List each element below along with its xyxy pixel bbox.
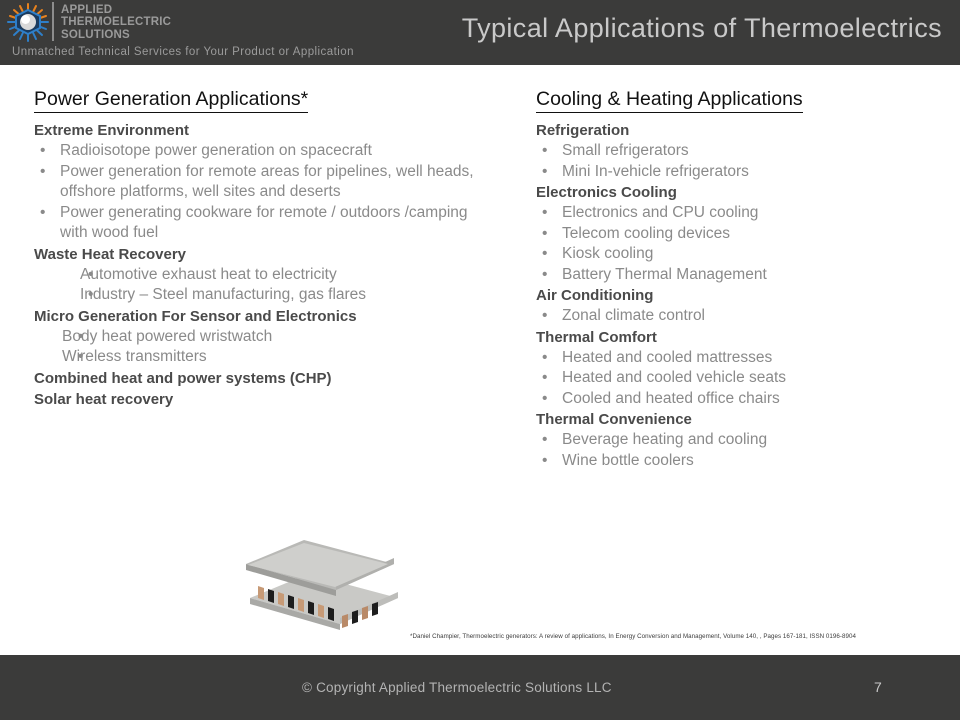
logo-line-2: THERMOELECTRIC: [61, 16, 171, 28]
bullet-item: •Automotive exhaust heat to electricity: [34, 265, 486, 286]
section-subheading: Waste Heat Recovery: [34, 245, 486, 265]
section-subheading: Extreme Environment: [34, 121, 486, 141]
bullet-text: Beverage heating and cooling: [562, 430, 956, 451]
bullet-dot-icon: •: [536, 141, 562, 162]
logo-wordmark: APPLIED THERMOELECTRIC SOLUTIONS: [52, 2, 171, 41]
bullet-text: Small refrigerators: [562, 141, 956, 162]
section-subheading: Thermal Convenience: [536, 410, 956, 430]
section-subheading: Solar heat recovery: [34, 390, 486, 410]
bullet-text: Mini In-vehicle refrigerators: [562, 162, 956, 183]
slide-title: Typical Applications of Thermoelectrics: [462, 13, 942, 44]
left-column-heading: Power Generation Applications*: [34, 88, 308, 113]
right-column-heading: Cooling & Heating Applications: [536, 88, 803, 113]
bullet-text: Zonal climate control: [562, 306, 956, 327]
bullet-item: •Wireless transmitters: [34, 347, 486, 368]
bullet-dot-icon: •: [536, 224, 562, 245]
bullet-text: Wireless transmitters: [62, 347, 486, 368]
bullet-text: Radioisotope power generation on spacecr…: [60, 141, 486, 162]
bullet-dot-icon: •: [34, 203, 60, 244]
section-subheading: Thermal Comfort: [536, 328, 956, 348]
bullet-dot-icon: •: [34, 162, 60, 203]
bullet-dot-icon: •: [34, 141, 60, 162]
bullet-text: Wine bottle coolers: [562, 451, 956, 472]
right-content-column: Cooling & Heating Applications Refrigera…: [536, 88, 956, 471]
bullet-item: •Power generation for remote areas for p…: [34, 162, 486, 203]
bullet-item: •Battery Thermal Management: [536, 265, 956, 286]
page-number: 7: [874, 679, 882, 695]
bullet-item: •Small refrigerators: [536, 141, 956, 162]
section-subheading: Electronics Cooling: [536, 183, 956, 203]
bullet-text: Power generation for remote areas for pi…: [60, 162, 486, 203]
bullet-item: •Industry – Steel manufacturing, gas fla…: [34, 285, 486, 306]
bullet-dot-icon: •: [536, 203, 562, 224]
bullet-text: Body heat powered wristwatch: [62, 327, 486, 348]
bullet-dot-icon: •: [536, 265, 562, 286]
bullet-text: Industry – Steel manufacturing, gas flar…: [80, 285, 486, 306]
bullet-item: •Body heat powered wristwatch: [34, 327, 486, 348]
bullet-item: •Power generating cookware for remote / …: [34, 203, 486, 244]
copyright-notice: © Copyright Applied Thermoelectric Solut…: [302, 680, 612, 695]
bullet-dot-icon: •: [536, 451, 562, 472]
company-tagline: Unmatched Technical Services for Your Pr…: [12, 46, 354, 58]
bullet-dot-icon: •: [536, 244, 562, 265]
bullet-text: Kiosk cooling: [562, 244, 956, 265]
source-footnote: *Daniel Champier, Thermoelectric generat…: [410, 632, 950, 641]
bullet-text: Heated and cooled mattresses: [562, 348, 956, 369]
bullet-text: Electronics and CPU cooling: [562, 203, 956, 224]
bullet-item: •Cooled and heated office chairs: [536, 389, 956, 410]
bullet-item: •Kiosk cooling: [536, 244, 956, 265]
bullet-dot-icon: •: [536, 430, 562, 451]
bullet-item: •Electronics and CPU cooling: [536, 203, 956, 224]
left-content-column: Power Generation Applications* Extreme E…: [34, 88, 486, 410]
slide-header-bar: APPLIED THERMOELECTRIC SOLUTIONS Unmatch…: [0, 0, 960, 65]
sunburst-logo-icon: [6, 2, 50, 44]
left-column-blocks: Extreme Environment•Radioisotope power g…: [34, 121, 486, 410]
bullet-dot-icon: •: [536, 306, 562, 327]
bullet-text: Cooled and heated office chairs: [562, 389, 956, 410]
slide-canvas: APPLIED THERMOELECTRIC SOLUTIONS Unmatch…: [0, 0, 960, 720]
bullet-item: •Radioisotope power generation on spacec…: [34, 141, 486, 162]
bullet-text: Automotive exhaust heat to electricity: [80, 265, 486, 286]
logo-line-3: SOLUTIONS: [61, 29, 171, 41]
thermoelectric-module-diagram: [228, 536, 413, 636]
section-subheading: Refrigeration: [536, 121, 956, 141]
bullet-text: Heated and cooled vehicle seats: [562, 368, 956, 389]
bullet-item: •Mini In-vehicle refrigerators: [536, 162, 956, 183]
section-subheading: Combined heat and power systems (CHP): [34, 369, 486, 389]
bullet-text: Power generating cookware for remote / o…: [60, 203, 486, 244]
logo-line-1: APPLIED: [61, 4, 171, 16]
right-column-blocks: Refrigeration•Small refrigerators•Mini I…: [536, 121, 956, 471]
section-subheading: Micro Generation For Sensor and Electron…: [34, 307, 486, 327]
bullet-dot-icon: •: [536, 389, 562, 410]
bullet-item: •Beverage heating and cooling: [536, 430, 956, 451]
bullet-dot-icon: •: [536, 162, 562, 183]
section-subheading: Air Conditioning: [536, 286, 956, 306]
bullet-text: Telecom cooling devices: [562, 224, 956, 245]
bullet-item: •Heated and cooled mattresses: [536, 348, 956, 369]
bullet-text: Battery Thermal Management: [562, 265, 956, 286]
bullet-dot-icon: •: [536, 348, 562, 369]
company-logo: APPLIED THERMOELECTRIC SOLUTIONS: [6, 2, 171, 44]
bullet-item: •Heated and cooled vehicle seats: [536, 368, 956, 389]
bullet-item: •Zonal climate control: [536, 306, 956, 327]
bullet-item: •Wine bottle coolers: [536, 451, 956, 472]
bullet-dot-icon: •: [536, 368, 562, 389]
bullet-item: •Telecom cooling devices: [536, 224, 956, 245]
